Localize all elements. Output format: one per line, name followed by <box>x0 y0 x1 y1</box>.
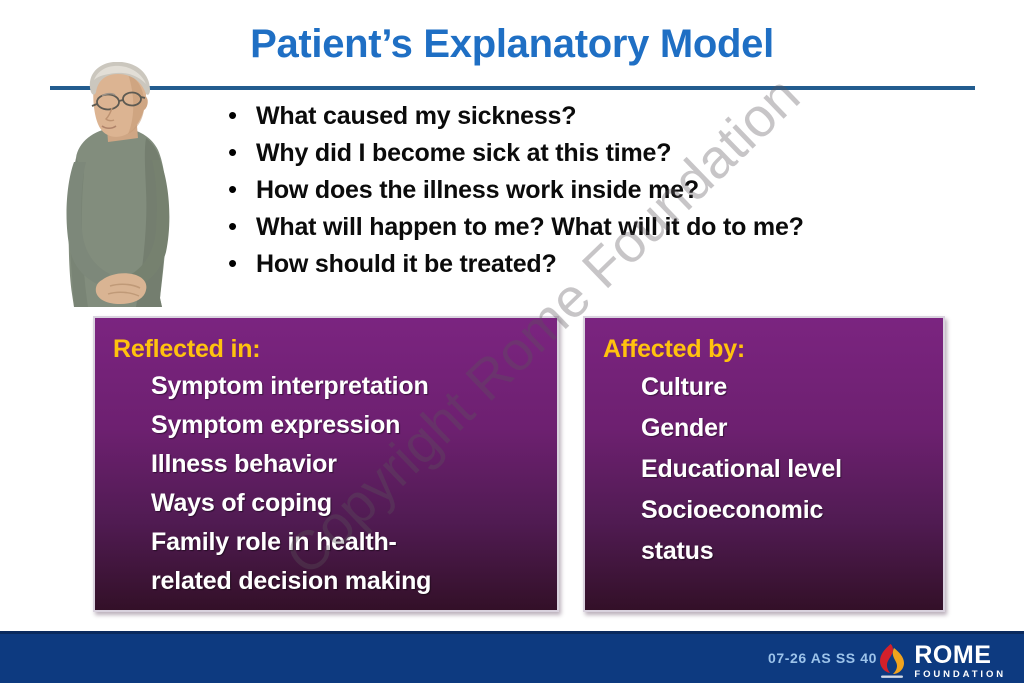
list-item: • How should it be treated? <box>228 248 1018 285</box>
list-item: Symptom interpretation <box>151 367 557 406</box>
list-item: Socioeconomic <box>641 490 943 531</box>
list-item: related decision making <box>151 562 557 601</box>
flame-icon <box>877 643 907 679</box>
logo-primary-text: ROME <box>914 643 1006 668</box>
list-item: Family role in health- <box>151 523 557 562</box>
bullet-label: What caused my sickness? <box>256 101 576 131</box>
footer-bar: 07-26 AS SS 40 ROME FOUNDATION <box>0 631 1024 683</box>
bullet-marker-icon: • <box>228 174 256 204</box>
bullet-marker-icon: • <box>228 137 256 167</box>
panel-reflected-in: Reflected in: Symptom interpretation Sym… <box>93 316 559 612</box>
panel-heading: Affected by: <box>603 335 943 364</box>
panel-affected-by: Affected by: Culture Gender Educational … <box>583 316 945 612</box>
logo-wordmark: ROME FOUNDATION <box>914 643 1006 680</box>
list-item: Ways of coping <box>151 484 557 523</box>
question-bullet-list: • What caused my sickness? • Why did I b… <box>228 100 1018 285</box>
bullet-label: What will happen to me? What will it do … <box>256 212 804 242</box>
panel-heading: Reflected in: <box>113 335 557 364</box>
list-item: Gender <box>641 408 943 449</box>
page-title: Patient’s Explanatory Model <box>0 22 1024 67</box>
bullet-label: Why did I become sick at this time? <box>256 138 671 168</box>
bullet-label: How does the illness work inside me? <box>256 175 699 205</box>
panel-item-list: Culture Gender Educational level Socioec… <box>585 367 943 572</box>
list-item: status <box>641 531 943 572</box>
bullet-marker-icon: • <box>228 100 256 130</box>
panel-item-list: Symptom interpretation Symptom expressio… <box>95 367 557 601</box>
rome-foundation-logo: ROME FOUNDATION <box>877 642 1006 680</box>
list-item: Symptom expression <box>151 406 557 445</box>
bullet-marker-icon: • <box>228 248 256 278</box>
list-item: Educational level <box>641 449 943 490</box>
list-item: • What will happen to me? What will it d… <box>228 211 1018 248</box>
slide-canvas: Patient’s Explanatory Model <box>0 0 1024 683</box>
list-item: Illness behavior <box>151 445 557 484</box>
logo-secondary-text: FOUNDATION <box>914 670 1006 680</box>
slide-reference-code: 07-26 AS SS 40 <box>768 650 877 666</box>
list-item: Culture <box>641 367 943 408</box>
list-item: • What caused my sickness? <box>228 100 1018 137</box>
bullet-marker-icon: • <box>228 211 256 241</box>
list-item: • Why did I become sick at this time? <box>228 137 1018 174</box>
list-item: • How does the illness work inside me? <box>228 174 1018 211</box>
bullet-label: How should it be treated? <box>256 249 557 279</box>
patient-photo <box>50 62 185 307</box>
title-divider-rule <box>50 86 975 90</box>
